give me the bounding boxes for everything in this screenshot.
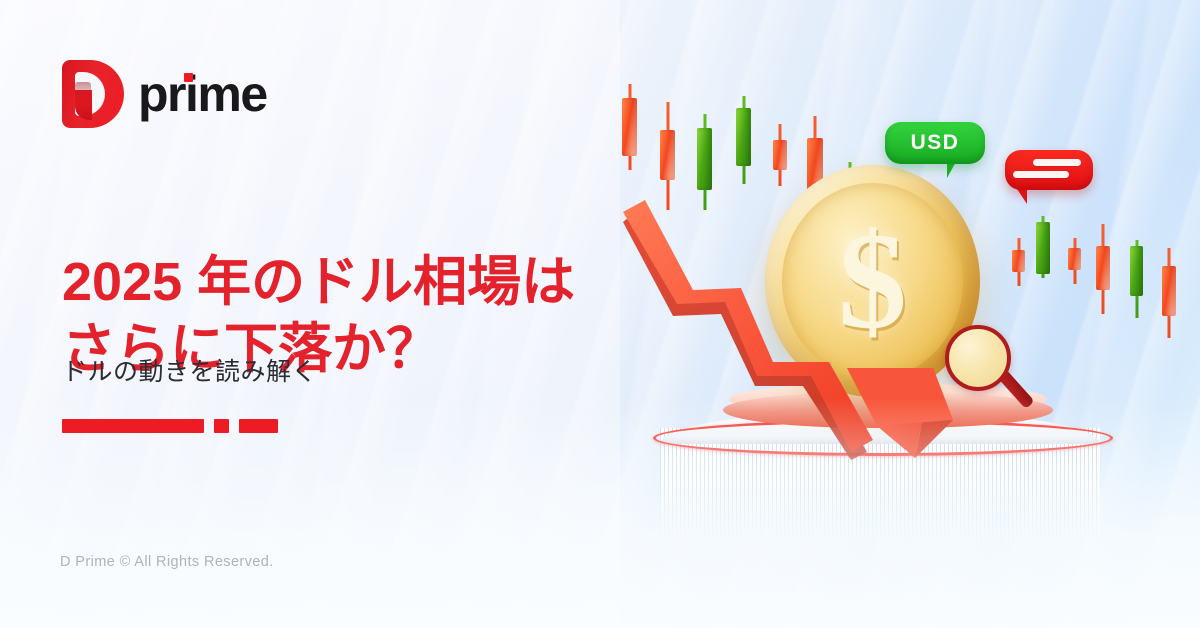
candlestick-body [1068, 248, 1081, 270]
divider-bar-medium [239, 419, 278, 433]
candlestick-body [1036, 222, 1050, 274]
brand-wordmark: prime [138, 69, 267, 119]
divider-bar-long [62, 419, 204, 433]
usd-bubble-label: USD [911, 131, 960, 155]
candlestick-body [773, 140, 787, 170]
red-bubble-body [1005, 150, 1093, 190]
d-monogram-shape [62, 60, 124, 128]
red-bubble-line-2 [1013, 171, 1069, 178]
copyright-text: D Prime © All Rights Reserved. [60, 554, 274, 570]
headline-line-1: 2025 年のドル相場は [62, 252, 575, 312]
brand-wordmark-text: prime [138, 66, 267, 122]
usd-speech-bubble: USD [885, 122, 985, 164]
candlestick-body [736, 108, 751, 166]
red-speech-bubble [1005, 150, 1093, 190]
candlestick-body [697, 128, 712, 190]
candlestick-body [660, 130, 675, 180]
candlestick-red [773, 140, 787, 170]
magnifier-lens [945, 325, 1011, 391]
candlestick-green [1130, 246, 1143, 296]
brand-logo[interactable]: prime [62, 60, 267, 128]
candlestick-body [622, 98, 637, 156]
candlestick-red [1096, 246, 1110, 290]
candlestick-red [1162, 266, 1176, 316]
brand-wordmark-dot [184, 73, 193, 82]
candlestick-green [697, 128, 712, 190]
candlestick-body [1096, 246, 1110, 290]
candlestick-body [1130, 246, 1143, 296]
divider-bar-small [214, 419, 229, 433]
candlestick-red [660, 130, 675, 180]
candlestick-green [1036, 222, 1050, 274]
candlestick-body [1162, 266, 1176, 316]
magnifier-icon [945, 325, 1045, 425]
usd-bubble-body: USD [885, 122, 985, 164]
promo-banner: $ [0, 0, 1200, 628]
d-monogram-icon [62, 60, 124, 128]
d-monogram-notch [75, 82, 91, 104]
decorative-divider [62, 419, 278, 433]
candlestick-red [622, 98, 637, 156]
red-bubble-line-1 [1033, 159, 1081, 166]
candlestick-green [736, 108, 751, 166]
candlestick-red [1068, 248, 1081, 270]
page-subtitle: ドルの動きを読み解く [62, 352, 317, 388]
